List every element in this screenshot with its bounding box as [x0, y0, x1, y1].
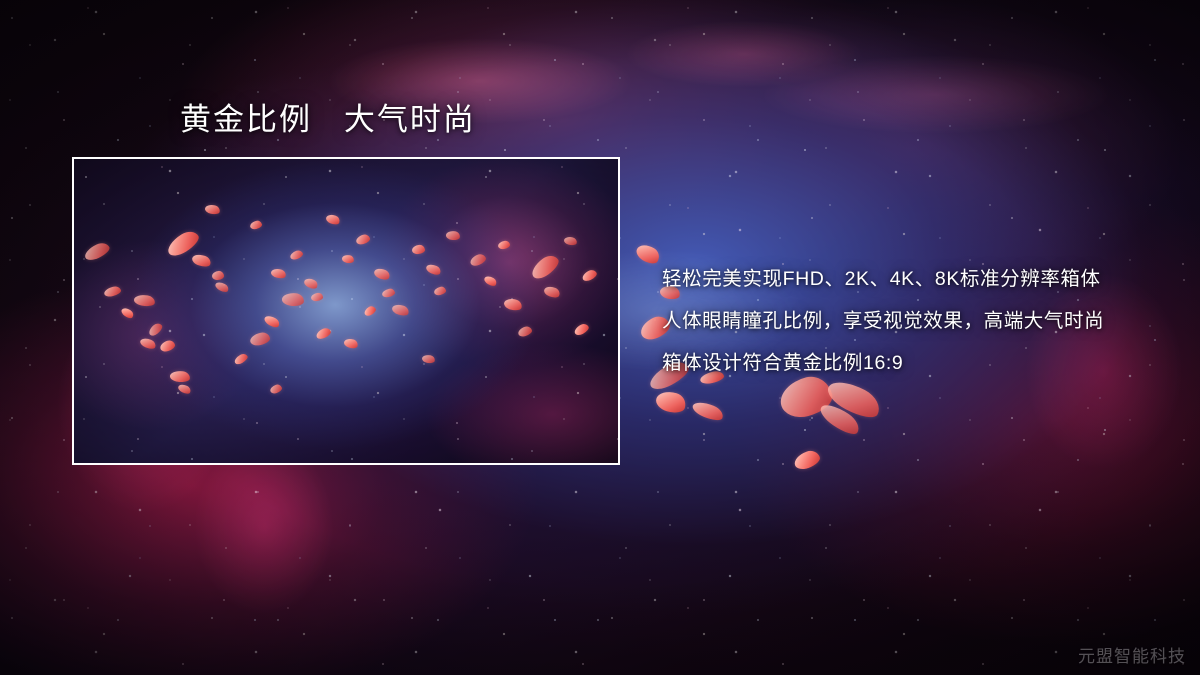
petal [159, 339, 176, 353]
petal [315, 326, 332, 340]
body-line-3: 箱体设计符合黄金比例16:9 [662, 342, 1172, 384]
petal [169, 370, 190, 383]
petal [563, 236, 577, 247]
petal [412, 244, 426, 254]
presentation-slide: 黄金比例 大气时尚 轻松完美实现FHD、2K、4K、8K标准分辨率箱体 人体眼睛… [0, 0, 1200, 675]
petal [281, 292, 304, 307]
galaxy-photo-frame [72, 157, 620, 465]
petal [341, 254, 354, 264]
petal [147, 321, 164, 338]
petal [263, 314, 281, 330]
petal [191, 252, 212, 268]
petal [270, 267, 287, 279]
photo-petals [74, 159, 618, 463]
petal [581, 268, 598, 283]
petal [483, 274, 498, 287]
petal [469, 252, 488, 267]
galaxy-photo [74, 159, 618, 463]
watermark: 元盟智能科技 [1078, 642, 1186, 667]
body-line-2: 人体眼睛瞳孔比例，享受视觉效果，高端大气时尚 [662, 300, 1172, 342]
petal [363, 305, 377, 318]
petal [503, 297, 523, 312]
petal [289, 249, 304, 261]
petal [103, 285, 122, 298]
petal [355, 233, 371, 246]
petal [445, 230, 460, 241]
petal [177, 383, 192, 396]
petal [654, 388, 688, 415]
petal [303, 276, 319, 290]
petal [634, 241, 663, 267]
body-line-1: 轻松完美实现FHD、2K、4K、8K标准分辨率箱体 [662, 258, 1172, 300]
petal [249, 331, 271, 347]
petal [497, 240, 510, 250]
petal [212, 270, 225, 280]
petal [214, 280, 230, 294]
petal [391, 303, 410, 318]
petal [691, 399, 726, 424]
petal [517, 325, 533, 338]
petal [120, 306, 135, 320]
petal [269, 383, 283, 395]
petal [139, 336, 157, 350]
petal [573, 322, 590, 337]
body-text-block: 轻松完美实现FHD、2K、4K、8K标准分辨率箱体 人体眼睛瞳孔比例，享受视觉效… [662, 258, 1172, 384]
petal [233, 352, 249, 366]
petal [325, 213, 341, 226]
petal [133, 294, 155, 308]
petal [204, 204, 221, 216]
petal [82, 240, 111, 263]
petal [543, 285, 561, 300]
petal [528, 252, 562, 283]
petal [381, 288, 395, 299]
petal [792, 448, 822, 472]
page-title: 黄金比例 大气时尚 [180, 101, 476, 140]
petal [433, 286, 447, 297]
petal [425, 262, 442, 276]
petal [249, 220, 263, 231]
petal [373, 266, 392, 281]
petal [343, 337, 359, 350]
petal [421, 354, 435, 364]
petal [311, 292, 324, 302]
